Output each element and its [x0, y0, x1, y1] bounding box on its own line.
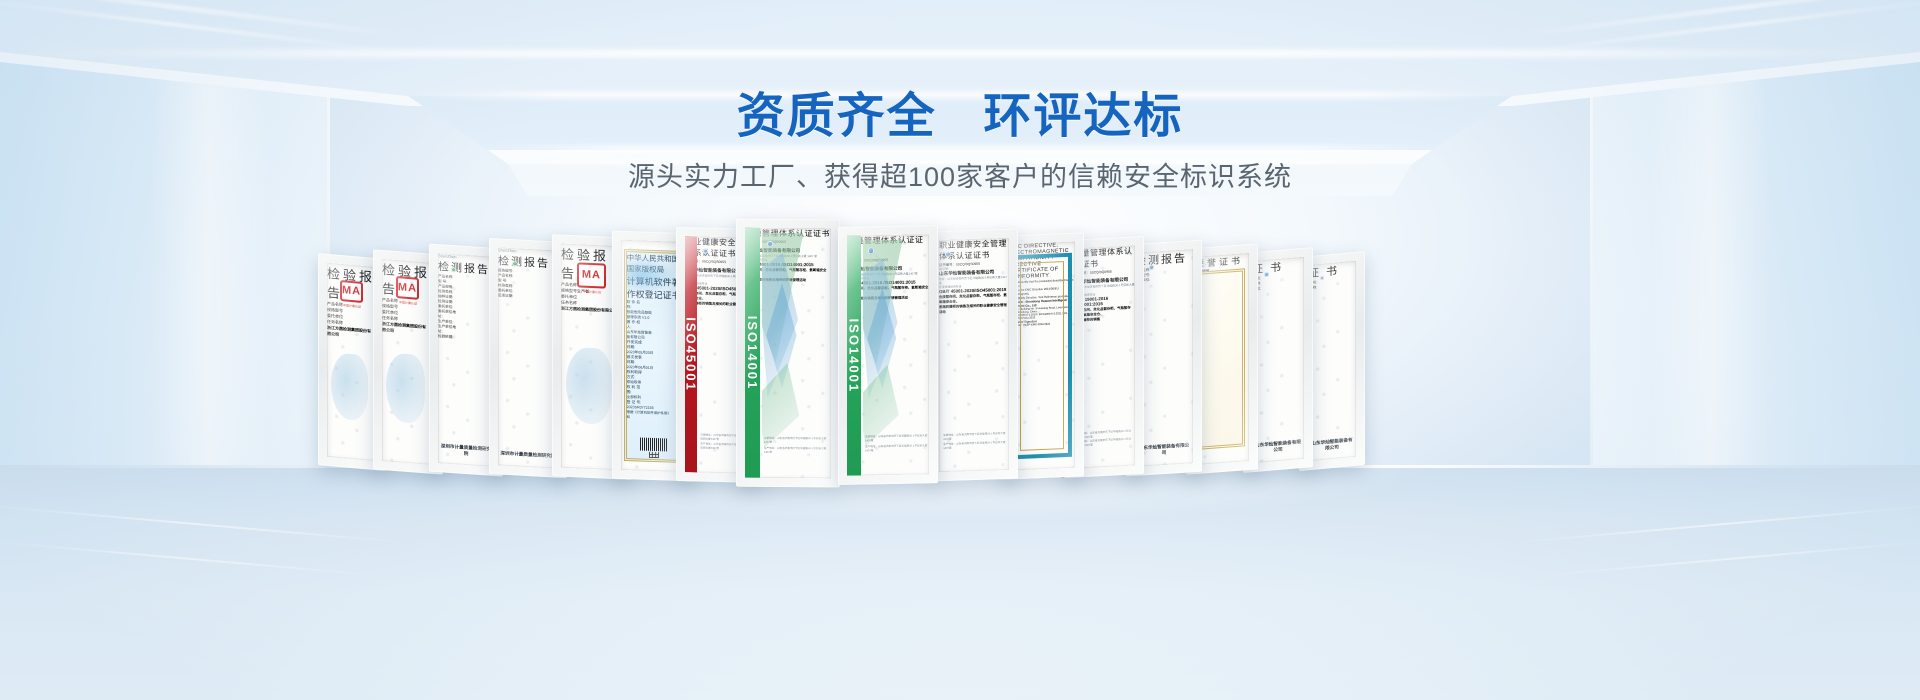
- ma-badge-icon: MA: [577, 262, 606, 288]
- ma-badge-icon: MA: [396, 276, 420, 300]
- certificate-page: 荣誉证书证书编号授予单位授予日期颁发单位有效期限山东华灿智能装备有限公司: [1195, 253, 1249, 465]
- certificate-page: EMC DIRECTIVE,ELECTROMAGNETIC COMPATIBIL…: [1009, 242, 1075, 471]
- certificate-frame[interactable]: ISO14001环境管理体系认证证书证书编号：00CQ/0QE0955兹证明：山…: [736, 219, 840, 488]
- paper-watermark: [1308, 261, 1356, 462]
- iso-spine-band: ISO14001: [847, 235, 861, 475]
- iso-spine-band: ISO45001: [685, 236, 697, 472]
- certificate-page: 职业健康安全管理体系认证证书证书编号：00CQ/0QS0955兹证明：山东华灿智…: [939, 238, 1009, 472]
- iso-standard-label: ISO14001: [847, 318, 861, 393]
- iso-standard-label: ISO45001: [685, 317, 698, 392]
- award-gold-border: [1199, 268, 1245, 450]
- certificate-frame[interactable]: 职业健康安全管理体系认证证书证书编号：00CQ/0QS0955兹证明：山东华灿智…: [930, 229, 1018, 482]
- iso-spine-band: ISO14001: [745, 228, 760, 478]
- certificate-page: ShenZhen检测报告产品名称:型 号:产品规格:检测类别:抽样日期:检测日期…: [438, 253, 494, 467]
- certification-body-logo-icon: [868, 247, 875, 254]
- certification-body-logo-icon: [945, 251, 951, 257]
- qr-code-icon: [649, 451, 660, 458]
- paper-watermark: [438, 253, 494, 467]
- certificate-page: ShenZhen检测报告报告编号:产品名称:型 号:检测类别:委托单位:签发日期…: [498, 247, 558, 468]
- certificate-page: 证 书编 号:名 称:单 位:山东华灿智能装备有限公司: [1252, 257, 1304, 463]
- paper-watermark: [498, 247, 558, 468]
- reflective-floor: [0, 465, 1920, 700]
- certificate-page: ISO14001环境管理体系认证证书证书编号：00CQ/0QE0955兹证明：山…: [745, 228, 831, 479]
- barcode-icon: [640, 438, 668, 451]
- certificate-page: MA中国计量认证检验报告产品名称规格型号委托单位任务名称浙江方圆检测集团股份有限…: [327, 263, 377, 461]
- ce-certificate-border: [1012, 253, 1071, 459]
- certificate-note: 根据《计算机软件保护条例》和: [627, 409, 673, 421]
- ma-badge-icon: MA: [340, 279, 363, 302]
- certificate-page: MA中国计量认证检验报告产品名称规格型号委托单位任务名称浙江方圆检测集团股份有限…: [382, 259, 434, 465]
- paper-watermark: [1252, 257, 1304, 463]
- banner-stage: 资质齐全 环评达标 源头实力工厂、获得超100家客户的信赖安全标识系统 MA中国…: [0, 0, 1920, 700]
- iso-standard-label: ISO14001: [745, 315, 760, 390]
- certificate-page: 证 书编 号:名 称:山东华灿智能装备有限公司: [1308, 261, 1356, 462]
- certificate-frame[interactable]: ISO14001环境管理体系认证证书证书编号：00CQ/0QE0955兹证明：山…: [838, 225, 938, 485]
- certificate-page: ISO14001环境管理体系认证证书证书编号：00CQ/0QE0955兹证明：山…: [847, 234, 929, 475]
